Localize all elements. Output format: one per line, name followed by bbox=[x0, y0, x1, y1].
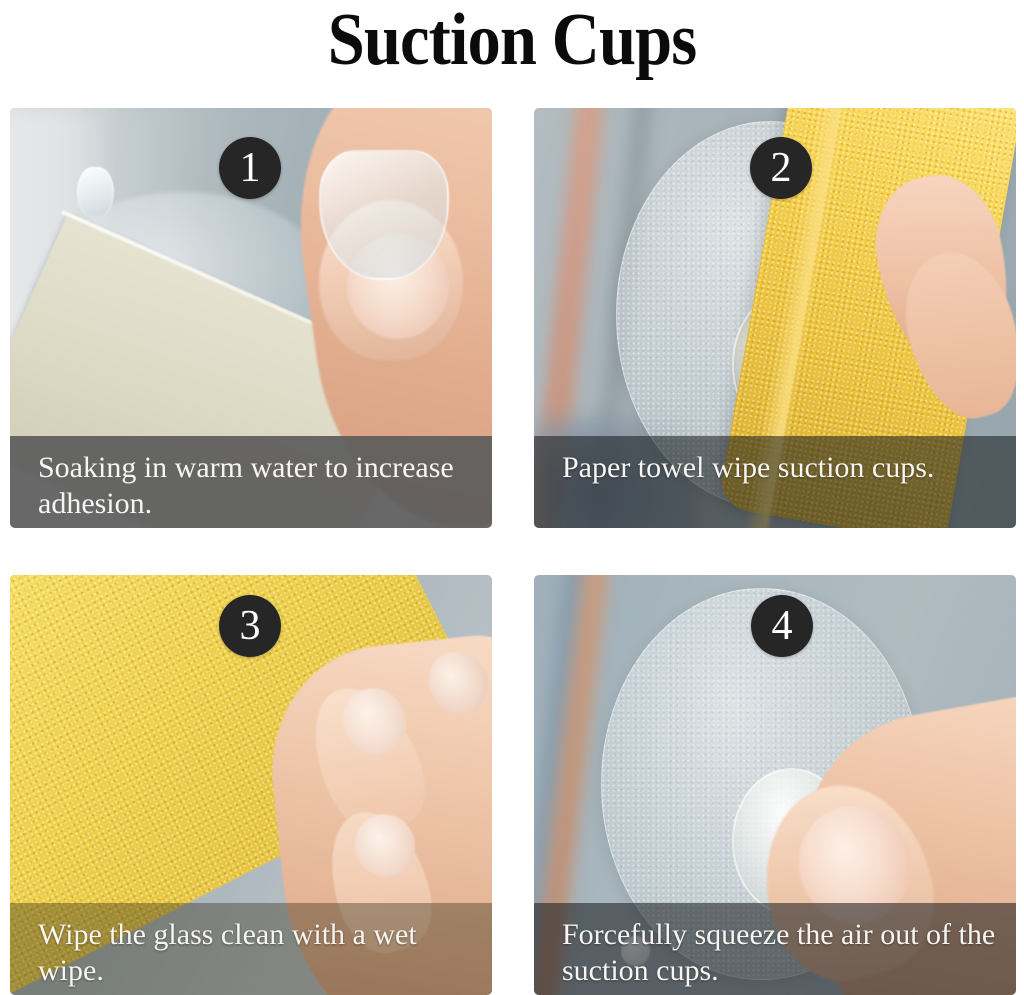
step-caption-4: Forcefully squeeze the air out of the su… bbox=[534, 903, 1016, 995]
step-panel-3[interactable]: 3 Wipe the glass clean with a wet wipe. bbox=[10, 575, 492, 995]
step-badge-4: 4 bbox=[751, 595, 813, 657]
suction-cup-stem bbox=[77, 167, 113, 217]
page-title: Suction Cups bbox=[51, 0, 973, 82]
step-caption-2: Paper towel wipe suction cups. bbox=[534, 436, 1016, 528]
step-caption-3: Wipe the glass clean with a wet wipe. bbox=[10, 903, 492, 995]
step-panel-2[interactable]: 2 Paper towel wipe suction cups. bbox=[534, 108, 1016, 528]
step-badge-3: 3 bbox=[219, 595, 281, 657]
step-panel-4[interactable]: 4 Forcefully squeeze the air out of the … bbox=[534, 575, 1016, 995]
step-caption-1: Soaking in warm water to increase adhesi… bbox=[10, 436, 492, 528]
step-badge-2: 2 bbox=[750, 137, 812, 199]
step-panel-1[interactable]: 1 Soaking in warm water to increase adhe… bbox=[10, 108, 492, 528]
steps-grid: 1 Soaking in warm water to increase adhe… bbox=[10, 108, 1014, 985]
step-badge-1: 1 bbox=[219, 137, 281, 199]
